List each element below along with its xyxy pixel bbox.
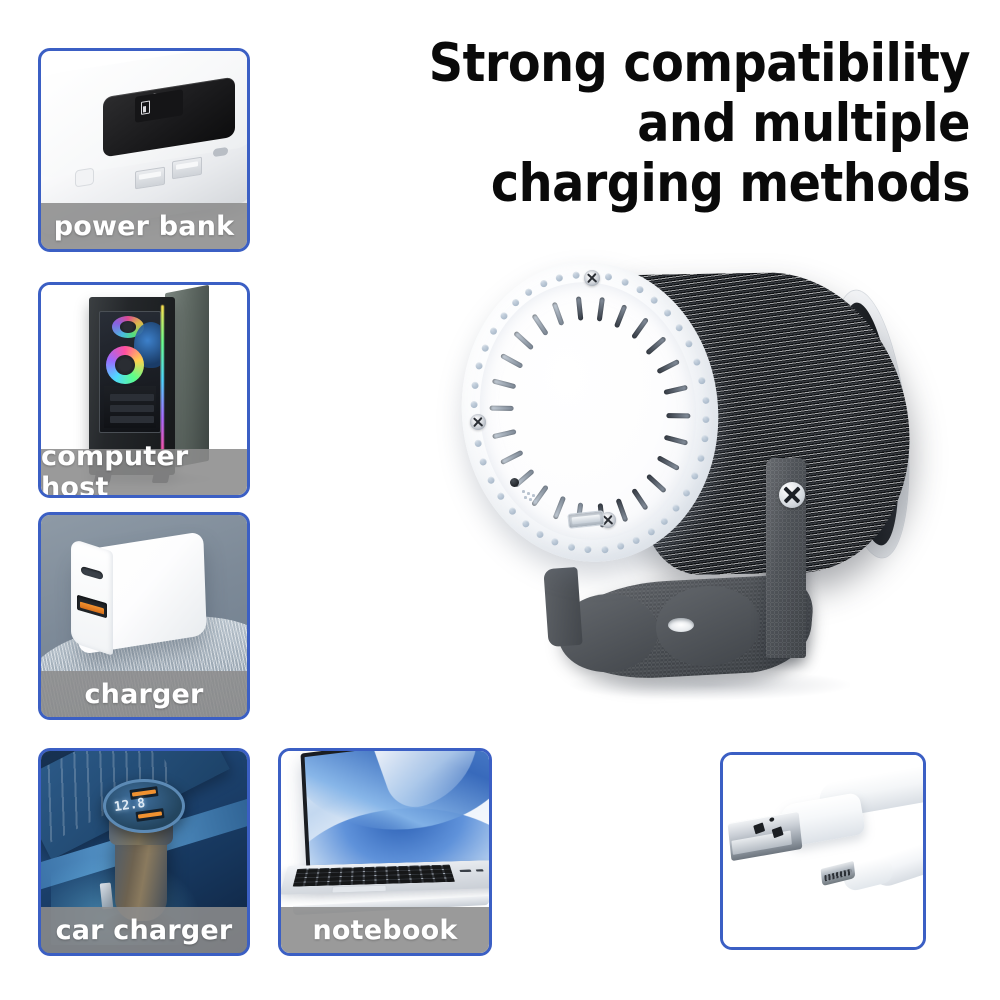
connector-cutout xyxy=(772,826,784,838)
hero-product-image xyxy=(450,250,930,730)
power-button xyxy=(75,167,94,187)
rgb-fan-icon xyxy=(106,346,144,384)
usb-a-connector xyxy=(728,811,803,861)
thumbnail-card-usb-cable[interactable] xyxy=(720,752,926,950)
usb-port xyxy=(459,870,471,873)
bracket-pivot-screw-icon xyxy=(779,482,805,508)
card-caption-charger: charger xyxy=(41,671,247,717)
card-caption-computer-host: computer host xyxy=(41,449,247,495)
expansion-slot xyxy=(110,416,154,423)
trackpad xyxy=(331,885,387,893)
keyboard xyxy=(293,865,455,887)
pc-glass-window xyxy=(99,311,161,433)
desktop-wallpaper xyxy=(305,751,489,872)
expansion-slot xyxy=(110,405,154,412)
card-caption-car-charger: car charger xyxy=(41,907,247,953)
bracket-front-neck xyxy=(543,567,582,647)
usb-port xyxy=(476,869,484,871)
card-caption-notebook: notebook xyxy=(281,907,489,953)
car-charger-head: 12.8 xyxy=(103,779,185,833)
microphone-holes-icon xyxy=(522,490,538,504)
expansion-slot xyxy=(110,394,154,401)
page-title: Strong compatibility and multiple chargi… xyxy=(330,34,970,214)
thumbnail-card-car-charger[interactable]: 12.8 car charger xyxy=(38,748,250,956)
connector-cutout xyxy=(769,817,775,823)
laptop-base xyxy=(281,860,489,895)
front-screw-icon xyxy=(470,414,486,430)
product-marketing-image: Strong compatibility and multiple chargi… xyxy=(0,0,1000,1000)
bracket-mounting-hole xyxy=(668,618,694,632)
motherboard xyxy=(104,386,156,428)
battery-icon xyxy=(141,100,150,114)
card-caption-power-bank: power bank xyxy=(41,203,247,249)
thumbnail-card-power-bank[interactable]: 90% power bank xyxy=(38,48,250,252)
usb-cable-illustration xyxy=(723,755,923,947)
connector-cutout xyxy=(753,822,765,834)
thumbnail-card-computer-host[interactable]: computer host xyxy=(38,282,250,498)
light-sensor-icon xyxy=(510,478,519,487)
rgb-light-strip xyxy=(161,305,164,455)
thumbnail-card-notebook[interactable]: notebook xyxy=(278,748,492,956)
front-screw-icon xyxy=(584,270,600,286)
thumbnail-card-charger[interactable]: charger xyxy=(38,512,250,720)
